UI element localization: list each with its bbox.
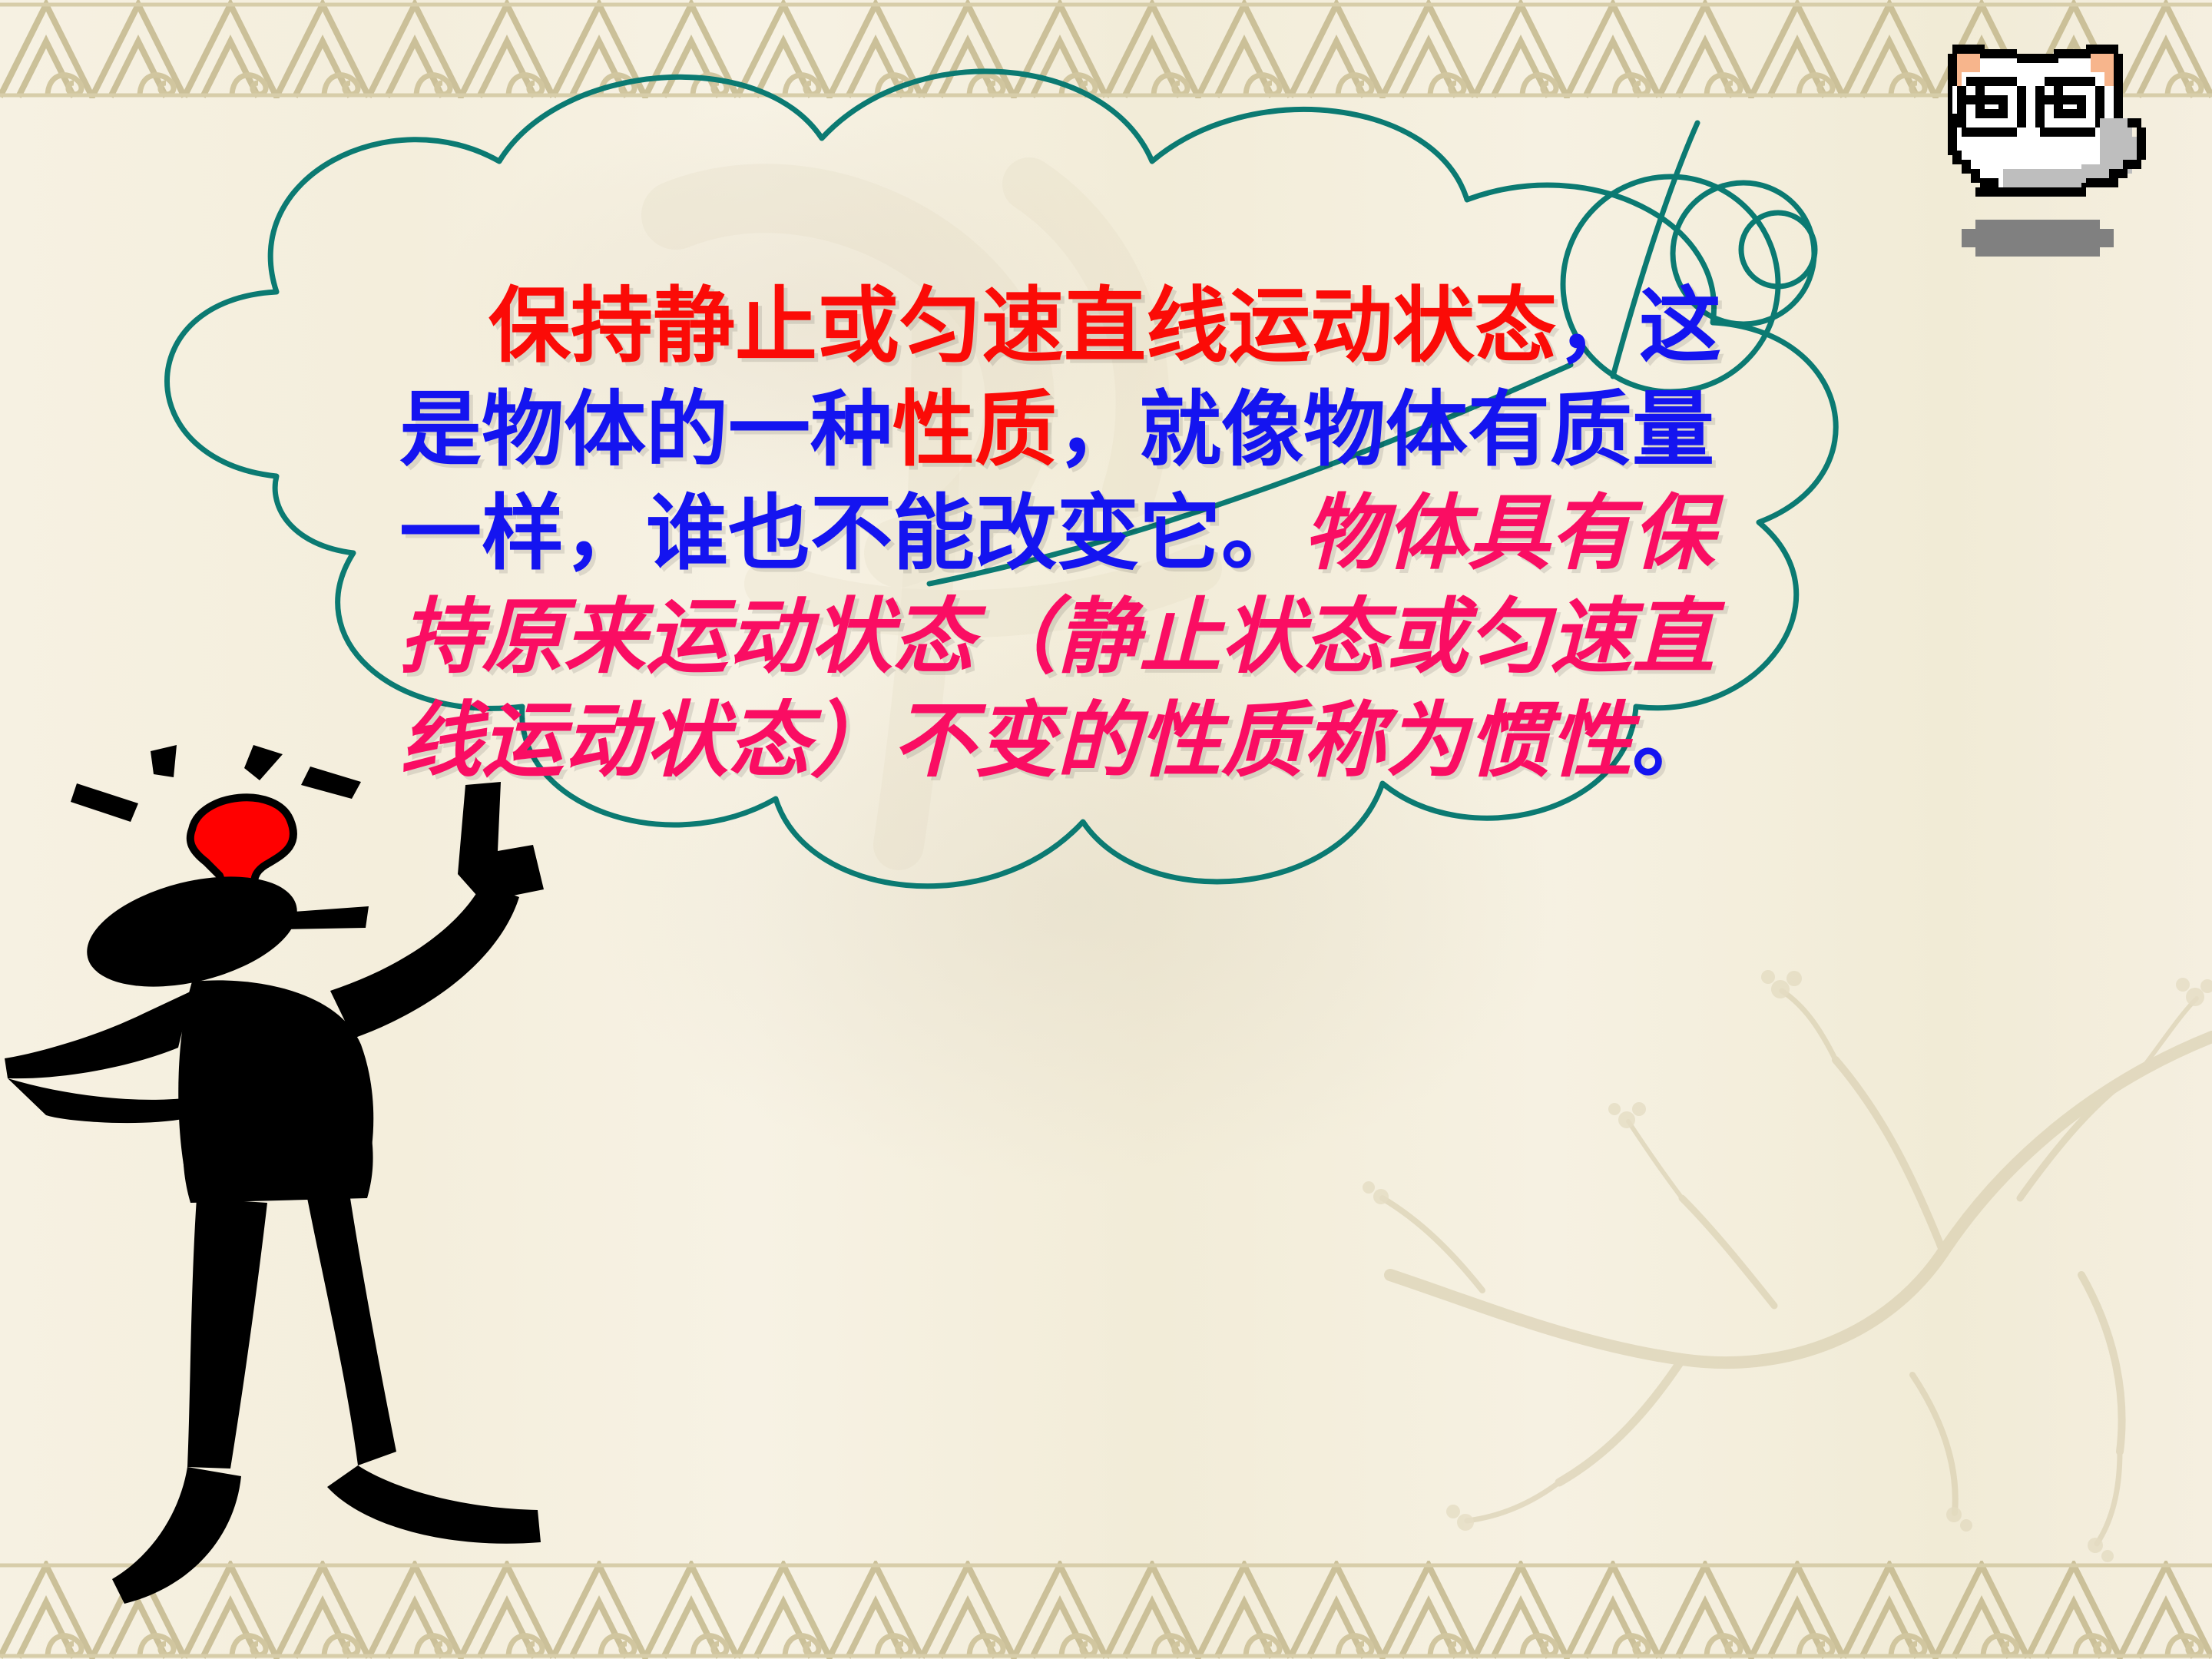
- figure-left-leg: [187, 1198, 267, 1469]
- cat-base-bar: [1962, 220, 2114, 257]
- run-blue-3: ，就像物体有质量: [1057, 382, 1714, 478]
- figure-shorts: [183, 1111, 373, 1203]
- run-blue-4: 一样，谁也不能改变它。: [399, 486, 1303, 581]
- run-blue-2: 是物体的一种: [399, 382, 892, 478]
- slide-canvas: 保持静止或匀速直线运动状态，这是物体的一种性质，就像物体有质量一样，谁也不能改变…: [0, 0, 2212, 1659]
- speech-line-4: 持原来运动状态（静止状态或匀速直: [399, 586, 1851, 690]
- run-pink-1: 物体具有保: [1303, 486, 1714, 581]
- figure-raised-arm: [330, 883, 519, 1038]
- figure-pointing-hand: [458, 782, 544, 902]
- speech-line-2: 是物体的一种性质，就像物体有质量: [399, 379, 1851, 482]
- run-pink-2: 持原来运动状态（静止状态或匀速直: [399, 590, 1714, 685]
- run-blue-5: 。: [1632, 694, 1714, 789]
- run-red-2: 性质: [892, 382, 1057, 478]
- run-blue-1: ，这: [1557, 279, 1721, 374]
- figure-left-foot: [112, 1467, 241, 1604]
- speech-text-block: 保持静止或匀速直线运动状态，这是物体的一种性质，就像物体有质量一样，谁也不能改变…: [399, 275, 1851, 793]
- speech-line-3: 一样，谁也不能改变它。物体具有保: [399, 482, 1851, 586]
- figure-right-leg: [307, 1198, 396, 1465]
- figure-right-foot: [327, 1465, 541, 1544]
- speech-line-1: 保持静止或匀速直线运动状态，这: [399, 275, 1851, 379]
- silhouette-figure: [0, 737, 637, 1659]
- figure-hip-arm-lower: [8, 1078, 187, 1123]
- run-red-1: 保持静止或匀速直线运动状态: [488, 279, 1557, 374]
- pixel-cat-icon: [1920, 17, 2151, 270]
- figure-hip-arm: [5, 991, 192, 1078]
